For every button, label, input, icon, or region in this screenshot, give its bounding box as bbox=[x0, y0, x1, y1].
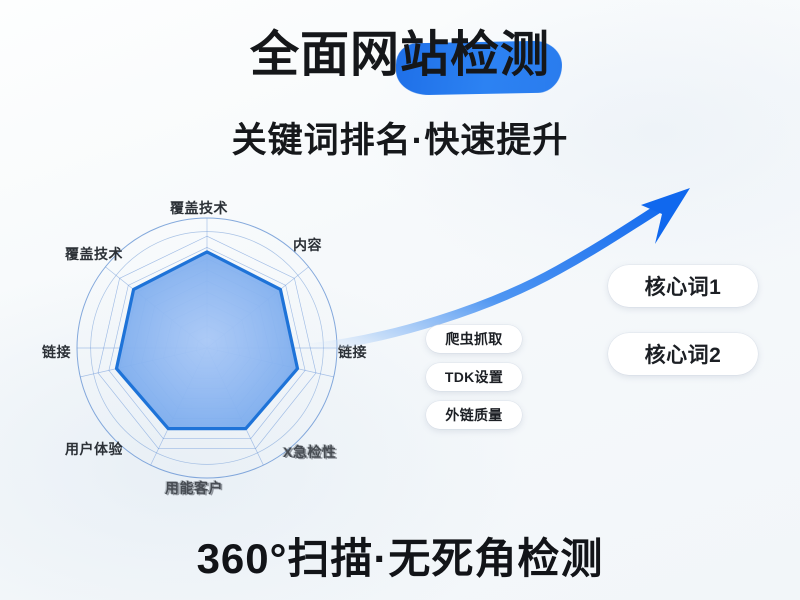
radar-chart: 覆盖技术 内容 链接 X急检性 用能客户 用户体验 覆盖技术 链接 bbox=[40, 196, 400, 511]
page-title-prefix: 全面 bbox=[250, 28, 350, 82]
radar-axis-label-right: 链接 bbox=[338, 342, 367, 362]
page-title-suffix: 检测 bbox=[450, 28, 550, 82]
radar-axis-label-lower-right: X急检性 bbox=[283, 442, 336, 462]
radar-axis-label-lower-left: 用户体验 bbox=[65, 439, 123, 459]
radar-data-polygon bbox=[117, 252, 298, 429]
page-subtitle: 关键词排名·快速提升 bbox=[0, 112, 800, 163]
page-title: 全面网站检测 bbox=[250, 28, 550, 83]
keyword-pill-1[interactable]: 核心词1 bbox=[608, 265, 758, 307]
radar-axis-label-top: 覆盖技术 bbox=[170, 198, 228, 218]
radar-axis-label-bottom: 用能客户 bbox=[165, 478, 223, 498]
arrow-head bbox=[641, 188, 690, 244]
poster-canvas: 全面网站检测 关键词排名·快速提升 覆盖技术 内容 链接 X急检性 用能客户 用… bbox=[0, 0, 800, 600]
page-title-highlight-text: 网站 bbox=[350, 28, 450, 82]
radar-axis-label-left: 链接 bbox=[42, 342, 71, 362]
headline-block: 全面网站检测 bbox=[0, 28, 800, 83]
tag-pill-backlink[interactable]: 外链质量 bbox=[426, 401, 522, 429]
bottom-tagline: 360°扫描·无死角检测 bbox=[0, 525, 800, 586]
tag-pill-tdk[interactable]: TDK设置 bbox=[426, 363, 522, 391]
radar-axis-label-upper-left: 覆盖技术 bbox=[65, 244, 123, 264]
radar-axis-label-upper-right: 内容 bbox=[293, 235, 322, 255]
keyword-pill-2[interactable]: 核心词2 bbox=[608, 333, 758, 375]
tag-pill-crawl[interactable]: 爬虫抓取 bbox=[426, 325, 522, 353]
